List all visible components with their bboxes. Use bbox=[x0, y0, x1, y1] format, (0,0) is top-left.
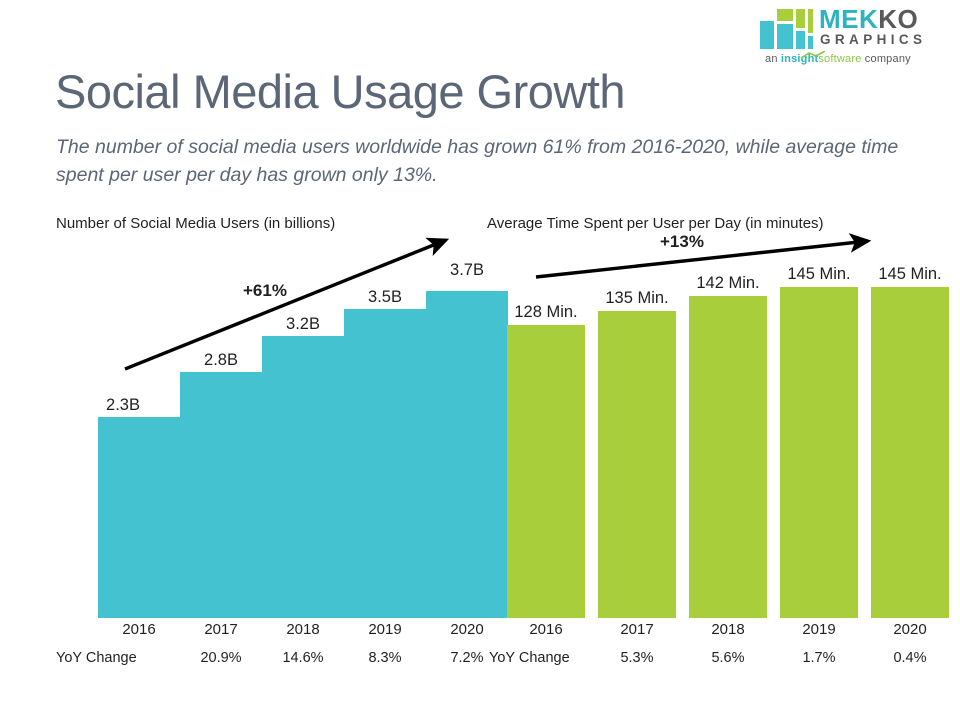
bar-value-2017: 135 Min. bbox=[588, 289, 686, 308]
bar-value-2019: 145 Min. bbox=[770, 265, 868, 284]
bar-value-2018: 142 Min. bbox=[679, 274, 777, 293]
bar-2018[interactable] bbox=[262, 336, 344, 618]
bar-2017[interactable] bbox=[180, 372, 262, 618]
bar-2019[interactable] bbox=[344, 309, 426, 618]
xtick-2019: 2019 bbox=[780, 621, 858, 638]
bar-2018[interactable] bbox=[689, 296, 767, 618]
bar-value-2020: 145 Min. bbox=[861, 265, 959, 284]
chart-users: 2.3B 2.8B 3.2B 3.5B 3.7B 2016 2017 2018 … bbox=[0, 0, 480, 720]
chart-time: 128 Min. 135 Min. 142 Min. 145 Min. 145 … bbox=[480, 0, 960, 720]
yoy-2019: 1.7% bbox=[780, 650, 858, 666]
xtick-2018: 2018 bbox=[689, 621, 767, 638]
xtick-2017: 2017 bbox=[598, 621, 676, 638]
yoy-2020: 0.4% bbox=[871, 650, 949, 666]
bar-value-2019: 3.5B bbox=[344, 288, 426, 307]
bar-2020[interactable] bbox=[871, 287, 949, 618]
yoy-2017: 5.3% bbox=[598, 650, 676, 666]
yoy-label-users: YoY Change bbox=[56, 650, 137, 666]
xtick-2016: 2016 bbox=[98, 621, 180, 638]
xtick-2018: 2018 bbox=[262, 621, 344, 638]
bar-value-2018: 3.2B bbox=[262, 315, 344, 334]
yoy-2018: 5.6% bbox=[689, 650, 767, 666]
xtick-2019: 2019 bbox=[344, 621, 426, 638]
bar-2019[interactable] bbox=[780, 287, 858, 618]
yoy-2018: 14.6% bbox=[262, 650, 344, 666]
yoy-label-time: YoY Change bbox=[489, 650, 570, 666]
bar-2017[interactable] bbox=[598, 311, 676, 618]
yoy-2019: 8.3% bbox=[344, 650, 426, 666]
bar-value-2016: 128 Min. bbox=[497, 303, 595, 322]
slide-canvas: MEKKO GRAPHICS an insightsoftware compan… bbox=[0, 0, 960, 720]
yoy-2017: 20.9% bbox=[180, 650, 262, 666]
xtick-2016: 2016 bbox=[507, 621, 585, 638]
bar-value-2017: 2.8B bbox=[180, 351, 262, 370]
bar-2016[interactable] bbox=[507, 325, 585, 618]
bar-value-2016: 2.3B bbox=[82, 396, 164, 415]
bar-2016[interactable] bbox=[98, 417, 180, 618]
xtick-2017: 2017 bbox=[180, 621, 262, 638]
xtick-2020: 2020 bbox=[871, 621, 949, 638]
